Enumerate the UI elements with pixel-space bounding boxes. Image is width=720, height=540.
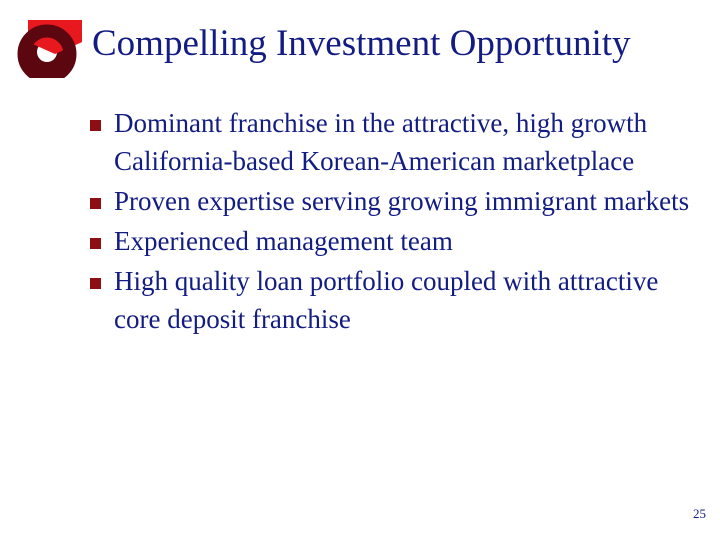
list-item: Dominant franchise in the attractive, hi… (90, 104, 698, 180)
list-item-label: Dominant franchise in the attractive, hi… (114, 104, 698, 180)
company-logo-icon (14, 16, 86, 78)
page-title: Compelling Investment Opportunity (92, 22, 704, 66)
square-bullet-icon (90, 198, 101, 209)
list-item: High quality loan portfolio coupled with… (90, 262, 698, 338)
bullet-list: Dominant franchise in the attractive, hi… (90, 104, 698, 340)
list-item-label: High quality loan portfolio coupled with… (114, 262, 698, 338)
list-item-label: Proven expertise serving growing immigra… (114, 182, 698, 220)
list-item: Experienced management team (90, 222, 698, 260)
square-bullet-icon (90, 278, 101, 289)
page-number: 25 (693, 506, 706, 522)
list-item: Proven expertise serving growing immigra… (90, 182, 698, 220)
square-bullet-icon (90, 120, 101, 131)
list-item-label: Experienced management team (114, 222, 698, 260)
slide: Compelling Investment Opportunity Domina… (0, 0, 720, 540)
square-bullet-icon (90, 238, 101, 249)
